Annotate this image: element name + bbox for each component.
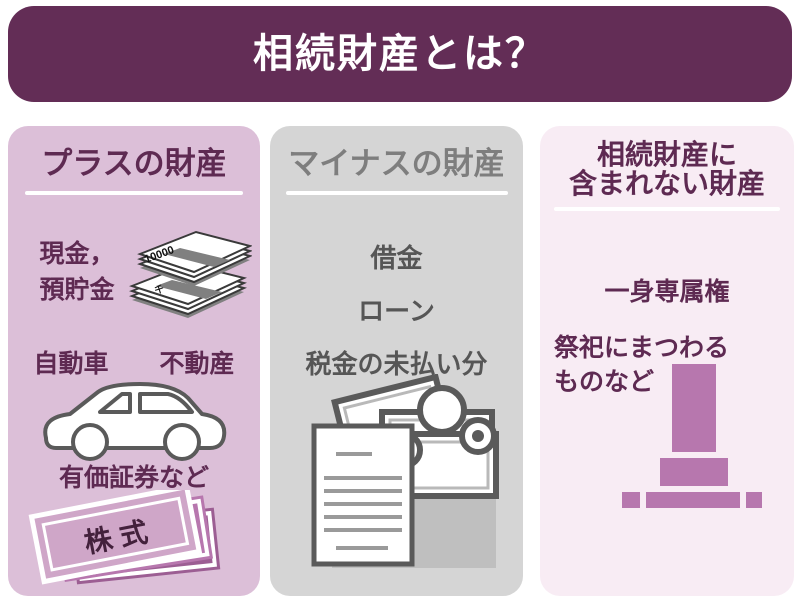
- divider-plus: [25, 191, 243, 195]
- label-personal-right: 一身専属権: [540, 272, 794, 308]
- header-banner: 相続財産とは？: [8, 6, 792, 102]
- label-car: 自動車: [33, 344, 108, 380]
- documents-invoices-icon: [290, 374, 506, 589]
- card-excluded-heading: 相続財産に 含まれない財産: [540, 140, 794, 199]
- money-stack-icon: 千 10000: [126, 230, 252, 339]
- label-cash-line1: 現金，: [39, 240, 114, 268]
- card-minus-assets: マイナスの財産 借金 ローン 税金の未払い分: [270, 126, 523, 596]
- card-minus-heading: マイナスの財産: [270, 148, 523, 181]
- label-cash: 現金， 預貯金: [22, 236, 132, 309]
- row-cash: 現金， 預貯金 千: [8, 230, 260, 335]
- label-realestate: 不動産: [159, 344, 234, 380]
- card-excluded-assets: 相続財産に 含まれない財産 一身専属権 祭祀にまつわる ものなど: [540, 126, 794, 596]
- car-icon: [36, 376, 232, 467]
- row-car-realestate: 自動車 不動産: [8, 344, 260, 380]
- columns-container: プラスの財産 現金， 預貯金 千: [0, 126, 800, 596]
- label-cash-line2: 預貯金: [39, 276, 114, 304]
- list-item: ローン: [270, 291, 523, 328]
- divider-excluded: [554, 207, 780, 211]
- card-plus-heading: プラスの財産: [8, 148, 260, 181]
- label-securities: 有価証券など: [8, 458, 260, 494]
- card-plus-assets: プラスの財産 現金， 預貯金 千: [8, 126, 260, 596]
- card-excluded-heading-line2: 含まれない財産: [546, 169, 788, 198]
- card-excluded-heading-line1: 相続財産に: [546, 140, 788, 169]
- list-item: 借金: [270, 238, 523, 275]
- page-title: 相続財産とは？: [253, 34, 547, 74]
- stock-certificate-icon: 株 式: [26, 490, 242, 596]
- gravestone-icon: [618, 358, 762, 513]
- divider-minus: [286, 191, 508, 195]
